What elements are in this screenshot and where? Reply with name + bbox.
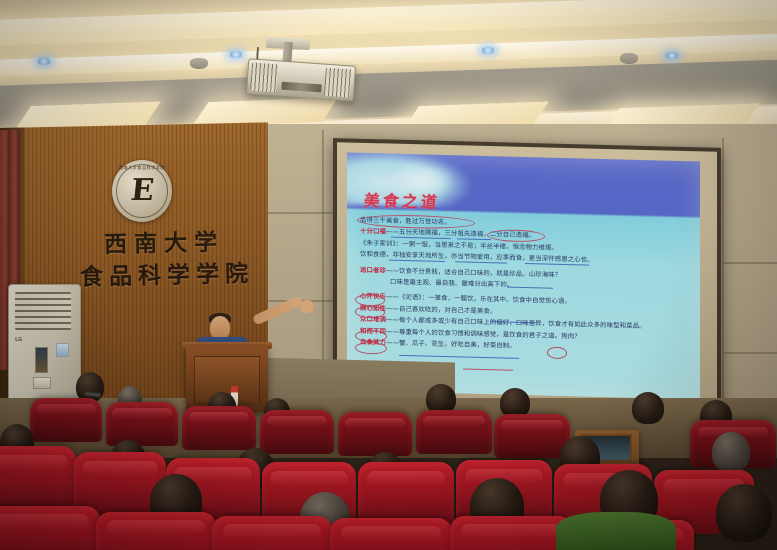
seat[interactable] (358, 462, 454, 524)
audience-head (716, 484, 772, 542)
seat[interactable] (416, 410, 492, 454)
seat[interactable] (338, 412, 412, 456)
slide-line-text: ——尊重每个人的饮食习惯和调味感觉，是饮食的君子之道。狗肉？ (386, 327, 581, 340)
emblem-arc-text: 西南大学食品科学学院 (119, 165, 165, 171)
audience-head (632, 392, 664, 424)
emblem-letter-glyph: E (129, 176, 155, 206)
ac-control-panel[interactable] (33, 377, 51, 389)
seat[interactable] (260, 410, 334, 454)
seat[interactable] (212, 516, 332, 550)
university-name-line1: 西南大学 (104, 223, 225, 260)
slide-text-line: 白食其力——蟹、瓜子、花生，好吃自美，好菜自制。 (360, 339, 690, 354)
slide-line-tag: 白食其力 (360, 338, 386, 347)
slide-line-tag: 顺心如性 (360, 304, 386, 313)
seat[interactable] (450, 516, 572, 550)
slide-line-text: ——自己喜欢吃的，对自己才是美食。 (386, 304, 496, 315)
smoke-detector-icon (620, 53, 638, 64)
slide-title: 美食之道 (363, 187, 442, 213)
ceiling-projector (246, 58, 356, 101)
annotation-underline (399, 355, 519, 359)
slide-line-tag: 众口难调 (360, 315, 386, 324)
projector-vent-left-icon (250, 63, 278, 93)
seat[interactable] (0, 506, 100, 550)
seat[interactable] (182, 406, 256, 450)
wall-panel-seam (724, 352, 777, 354)
ceiling-downlight-icon (664, 52, 680, 59)
slide-line-text: 口味是最主观、最自我、最难分出高下的。 (390, 278, 513, 289)
audience-shoulder (556, 512, 676, 550)
slide-line-tag: 适口者珍 (360, 265, 386, 274)
seat[interactable] (106, 402, 178, 446)
ceiling-downlight-icon (36, 58, 52, 65)
slide-line-text: 品得三千美食，胜过万世功名。 (360, 216, 451, 226)
ac-brand-label: LG (15, 337, 22, 343)
seat[interactable] (30, 398, 102, 442)
air-conditioner[interactable]: LG (8, 284, 81, 406)
seat[interactable] (0, 446, 76, 508)
lecture-hall-photo: 西南大学食品科学学院 E 西南大学 食品科学学院 LG 美食之道 品得三千美食，… (0, 0, 777, 550)
seat[interactable] (494, 414, 570, 458)
ac-display-screen (35, 347, 48, 373)
university-college-line2: 食品科学学院 (80, 254, 255, 292)
ac-vent-grille-icon (15, 292, 71, 330)
smoke-detector-icon (190, 58, 208, 69)
annotation-underline (463, 368, 513, 370)
wall-panel-seam (724, 262, 777, 264)
ceiling-downlight-icon (480, 47, 496, 54)
seat[interactable] (330, 518, 452, 550)
university-emblem: 西南大学食品科学学院 E (112, 160, 172, 222)
wall-panel-seam (722, 138, 724, 438)
ceiling-downlight-icon (228, 51, 244, 58)
slide-line-tag: 和而不同 (360, 327, 386, 336)
seat[interactable] (96, 512, 216, 550)
slide-line-tag: 十分口福 (360, 227, 386, 236)
slide-line-tag: 心怀快乐 (360, 292, 386, 301)
ac-energy-label (56, 343, 69, 357)
slide-line-text: ——蟹、瓜子、花生，好吃自美，好菜自制。 (386, 339, 516, 350)
audience-head (712, 432, 750, 472)
projector-vent-right-icon (324, 68, 352, 98)
projector-port-row (281, 82, 321, 93)
